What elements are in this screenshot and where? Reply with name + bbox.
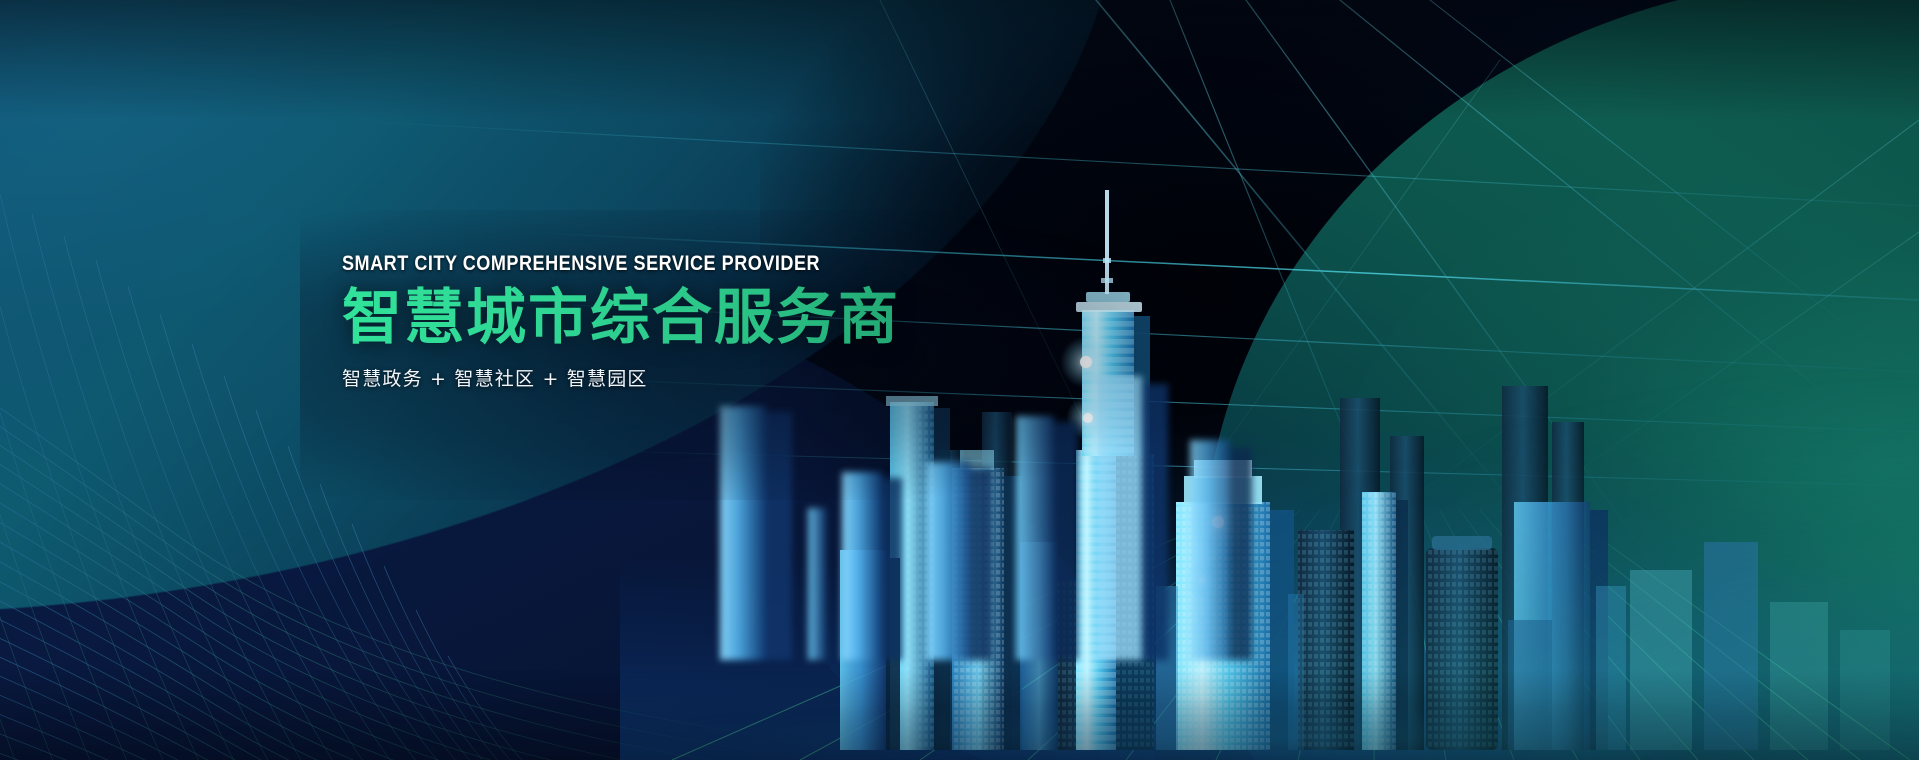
hero-subtitle: 智慧政务 + 智慧社区 + 智慧园区 — [342, 364, 1162, 391]
hero-copy-block: SMART CITY COMPREHENSIVE SERVICE PROVIDE… — [342, 252, 1162, 391]
hero-eyebrow-english: SMART CITY COMPREHENSIVE SERVICE PROVIDE… — [342, 252, 1047, 276]
page-title: 智慧城市综合服务商 — [342, 285, 1162, 352]
green-foreground-haze — [1019, 330, 1919, 760]
smart-city-hero-banner: SMART CITY COMPREHENSIVE SERVICE PROVIDE… — [0, 0, 1919, 760]
